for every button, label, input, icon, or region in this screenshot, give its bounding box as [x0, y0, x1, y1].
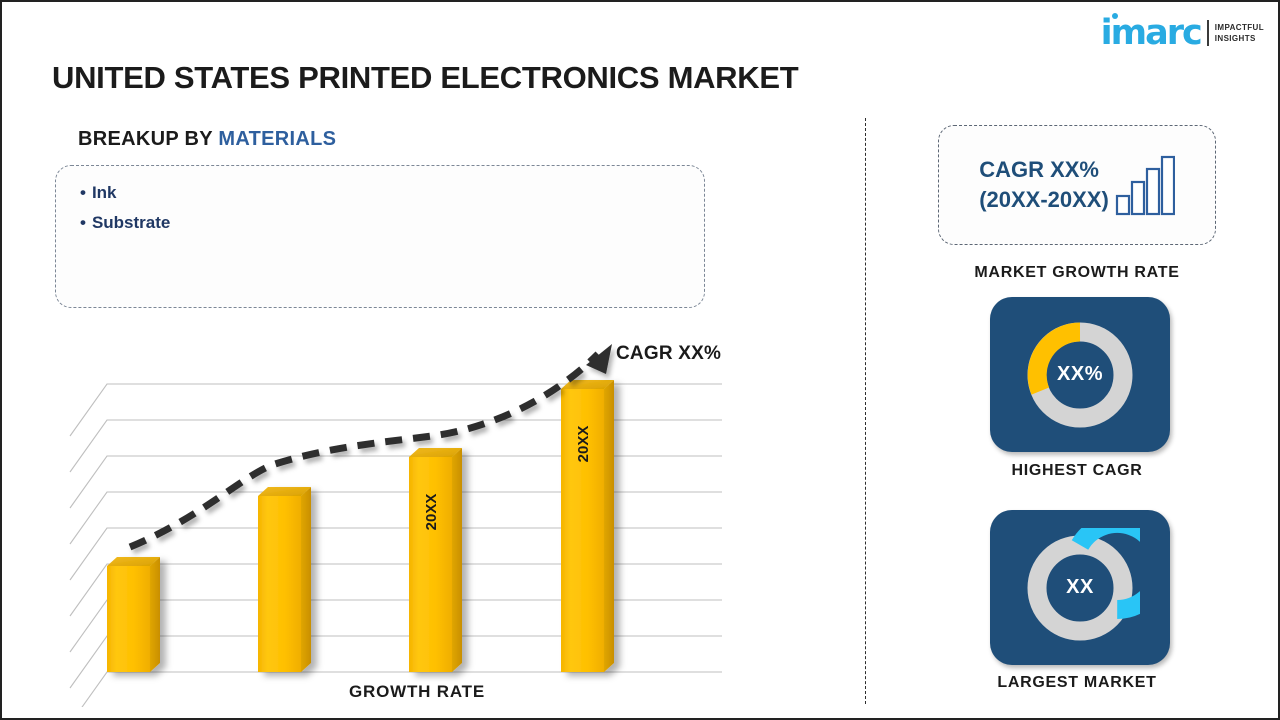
page-title: UNITED STATES PRINTED ELECTRONICS MARKET: [52, 60, 798, 96]
logo-tagline-line2: INSIGHTS: [1215, 33, 1264, 44]
breakup-heading-accent: MATERIALS: [218, 128, 336, 150]
bullet-icon: •: [80, 183, 86, 202]
caption-highest-cagr: HIGHEST CAGR: [882, 462, 1272, 480]
caption-market-growth-rate: MARKET GROWTH RATE: [882, 264, 1272, 282]
largest-market-value: XX: [1066, 576, 1094, 599]
logo-divider: [1207, 20, 1209, 46]
materials-list-box: •Ink •Substrate: [55, 165, 705, 308]
bar-4-label: 20XX: [575, 426, 592, 463]
bar-4: [561, 380, 614, 672]
bar-3-label: 20XX: [423, 494, 440, 531]
bar-3: [409, 448, 462, 672]
bar-1: [107, 557, 160, 672]
logo-tagline: IMPACTFUL INSIGHTS: [1215, 22, 1264, 44]
cagr-annotation-label: CAGR XX%: [616, 343, 721, 365]
highest-cagr-value: XX%: [1057, 363, 1103, 386]
cagr-trendline: [130, 344, 612, 547]
metrics-panel: CAGR XX% (20XX-20XX) MARKET GROWTH RATE …: [882, 112, 1272, 712]
imarc-logo: imarc IMPACTFUL INSIGHTS: [1101, 14, 1264, 52]
bar-2: [258, 487, 311, 672]
caption-largest-market: LARGEST MARKET: [882, 674, 1272, 692]
logo-wordmark-text: imarc: [1101, 13, 1201, 53]
cagr-box-line1: CAGR XX%: [979, 155, 1109, 185]
bullet-icon: •: [80, 213, 86, 232]
cagr-box-text: CAGR XX% (20XX-20XX): [979, 155, 1109, 215]
chart-gridlines: [70, 384, 722, 707]
growth-rate-bar-chart: 20XX 20XX: [50, 332, 750, 707]
ascending-bars-icon: [1115, 154, 1175, 216]
list-item: •Ink: [80, 178, 680, 208]
cagr-box-line2: (20XX-20XX): [979, 185, 1109, 215]
market-growth-rate-box: CAGR XX% (20XX-20XX): [938, 125, 1216, 245]
highest-cagr-card: XX%: [990, 297, 1170, 452]
bar-chart-svg: 20XX 20XX: [50, 332, 750, 707]
logo-tagline-line1: IMPACTFUL: [1215, 22, 1264, 33]
largest-market-card: XX: [990, 510, 1170, 665]
section-divider: [865, 118, 866, 704]
infographic-page: imarc IMPACTFUL INSIGHTS UNITED STATES P…: [0, 0, 1280, 720]
chart-x-axis-label: GROWTH RATE: [349, 682, 485, 702]
list-item-label: Substrate: [92, 213, 170, 232]
imarc-wordmark: imarc: [1101, 16, 1201, 50]
breakup-heading: BREAKUP BY MATERIALS: [78, 128, 336, 151]
list-item: •Substrate: [80, 208, 680, 238]
list-item-label: Ink: [92, 183, 117, 202]
logo-dot-icon: [1112, 13, 1118, 19]
breakup-heading-prefix: BREAKUP BY: [78, 128, 218, 150]
